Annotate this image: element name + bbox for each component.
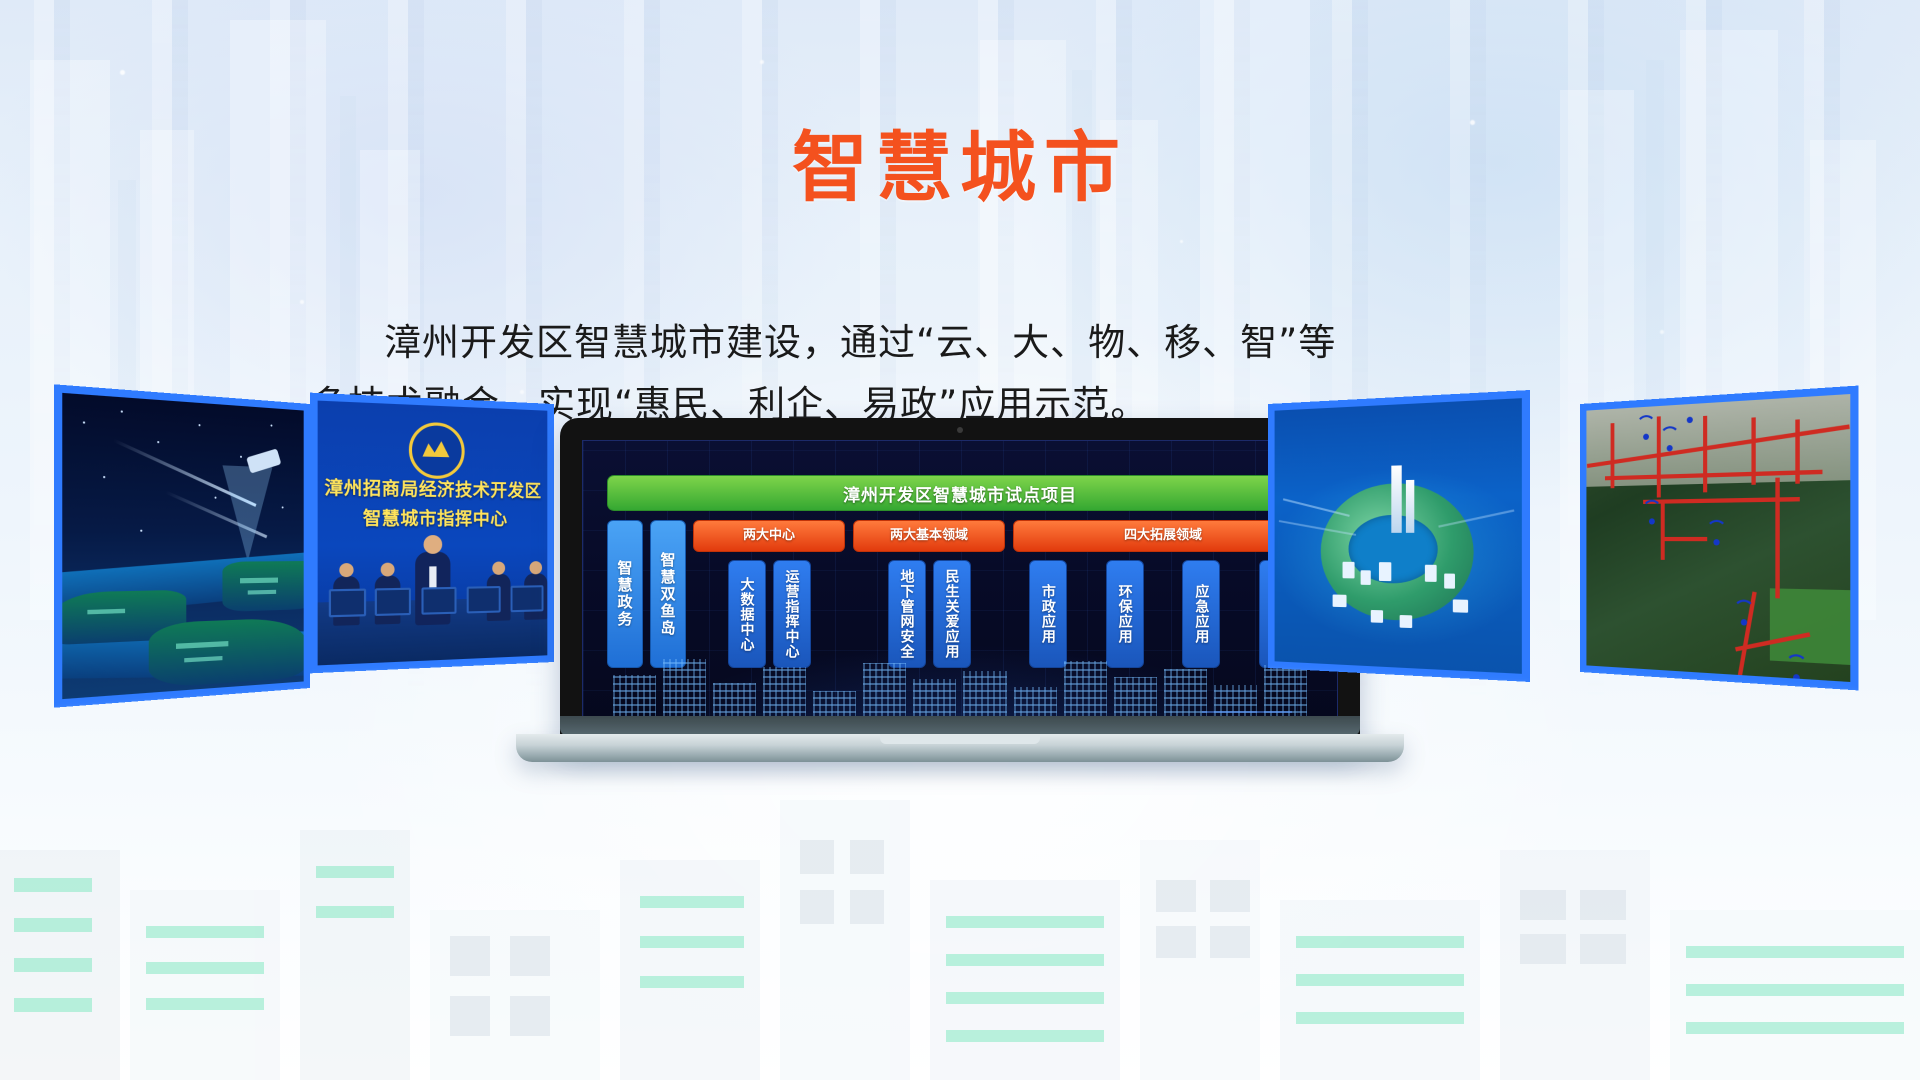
group-two-basic-domains: 两大基本领域 地下管网安全 民生关爱应用 (853, 520, 1005, 668)
item-underground-pipe-safety[interactable]: 地下管网安全 (888, 560, 926, 668)
pillar-smart-government[interactable]: 智慧政务 (607, 520, 643, 668)
wifi-hotspot-icon (1679, 406, 1701, 426)
item-municipal-application[interactable]: 市政应用 (1029, 560, 1067, 668)
item-public-welfare-application[interactable]: 民生关爱应用 (933, 560, 971, 668)
photo-panel-night-river-city[interactable] (54, 384, 310, 707)
panel-frame: 漳州招商局经济技术开发区 智慧城市指挥中心 (310, 393, 554, 674)
laptop-base (516, 734, 1404, 762)
diagram-pillars: 智慧政务 智慧双鱼岛 (607, 520, 686, 668)
laptop-screen: 漳州开发区智慧城市试点项目 智慧政务 智慧双鱼岛 两大中心 大数据中心 (582, 440, 1338, 732)
pillar-smart-shuangyu-island[interactable]: 智慧双鱼岛 (650, 520, 686, 668)
command-center-caption-line-1: 漳州招商局经济技术开发区 (318, 472, 548, 502)
wifi-hotspot-icon (1705, 528, 1728, 547)
webcam-icon (957, 427, 963, 433)
smart-city-architecture-diagram: 漳州开发区智慧城市试点项目 智慧政务 智慧双鱼岛 两大中心 大数据中心 (607, 475, 1313, 668)
panel-frame (1268, 390, 1530, 682)
wifi-hotspot-icon (1659, 434, 1681, 454)
item-emergency-application[interactable]: 应急应用 (1182, 560, 1220, 668)
panel-image-satellite-map (1586, 394, 1850, 682)
item-environmental-application[interactable]: 环保应用 (1106, 560, 1144, 668)
panel-frame (54, 384, 310, 707)
panel-frame (1580, 386, 1859, 691)
description-line-1: 漳州开发区智慧城市建设，通过“云、大、物、移、智”等 (310, 312, 1610, 374)
laptop-trackpad-notch (880, 736, 1040, 744)
group-label-two-basic-domains[interactable]: 两大基本领域 (853, 520, 1005, 552)
item-big-data-center[interactable]: 大数据中心 (728, 560, 766, 668)
command-center-caption-line-2: 智慧城市指挥中心 (318, 503, 548, 530)
laptop-device[interactable]: 漳州开发区智慧城市试点项目 智慧政务 智慧双鱼岛 两大中心 大数据中心 (560, 418, 1360, 748)
panel-image-command-center: 漳州招商局经济技术开发区 智慧城市指挥中心 (318, 401, 548, 666)
group-label-two-centers[interactable]: 两大中心 (693, 520, 845, 552)
wifi-hotspot-icon (1641, 508, 1663, 527)
item-operations-command-center[interactable]: 运营指挥中心 (773, 560, 811, 668)
diagram-header: 漳州开发区智慧城市试点项目 (607, 475, 1313, 511)
group-two-centers: 两大中心 大数据中心 运营指挥中心 (693, 520, 845, 668)
diagram-groups: 两大中心 大数据中心 运营指挥中心 两大基本领域 地下管网安全 (693, 520, 1313, 668)
slide-canvas: 智慧城市 漳州开发区智慧城市建设，通过“云、大、物、移、智”等 多技术融合，实现… (0, 0, 1920, 1080)
wifi-hotspot-icon (1784, 662, 1809, 682)
招商局-logo-icon (409, 421, 465, 479)
photo-panel-island-masterplan[interactable] (1268, 390, 1530, 682)
wifi-hotspot-icon (1732, 608, 1755, 628)
laptop-hinge (560, 716, 1360, 736)
laptop-lid: 漳州开发区智慧城市试点项目 智慧政务 智慧双鱼岛 两大中心 大数据中心 (560, 418, 1360, 748)
wifi-hotspot-icon (1635, 423, 1656, 443)
page-title: 智慧城市 (0, 106, 1920, 216)
photo-panel-command-center[interactable]: 漳州招商局经济技术开发区 智慧城市指挥中心 (310, 393, 554, 674)
photo-panel-satellite-map[interactable] (1580, 386, 1859, 691)
panel-image-night-river-city (62, 393, 303, 699)
background-city-skyline (0, 740, 1920, 1080)
panel-image-island-masterplan (1275, 398, 1522, 674)
screen-wave-decoration (1202, 689, 1292, 713)
